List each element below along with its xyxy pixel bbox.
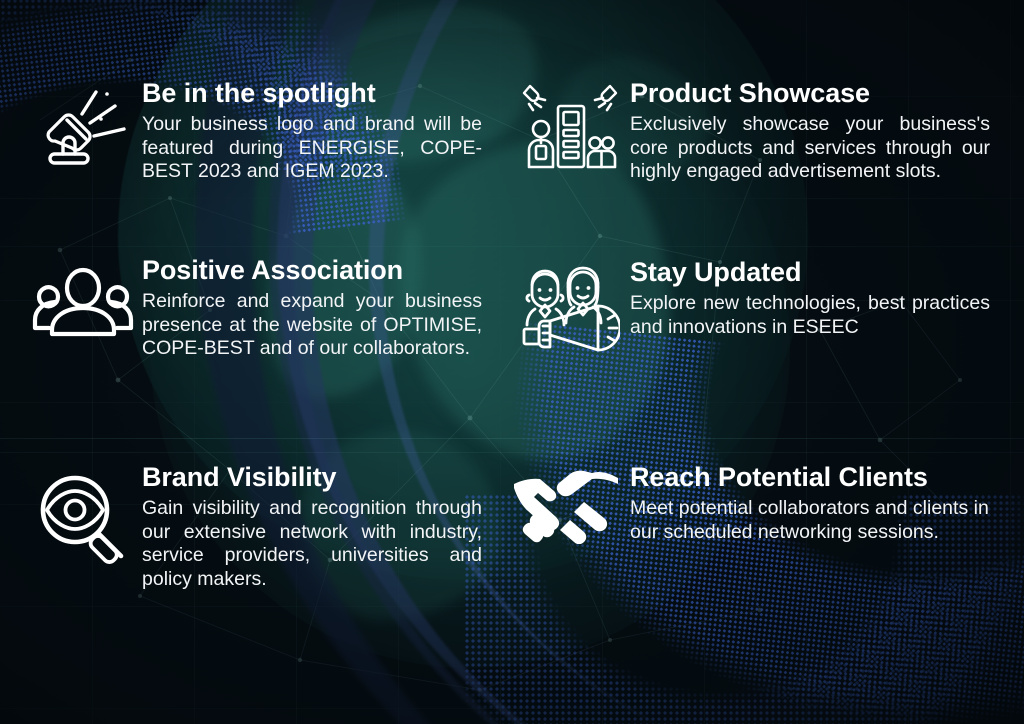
benefit-title: Product Showcase <box>630 78 990 108</box>
magnifier-eye-icon <box>24 462 142 724</box>
spotlight-icon <box>30 78 142 247</box>
benefit-card-positive-association: Positive Association Reinforce and expan… <box>0 247 492 452</box>
benefit-description: Gain visibility and recognition through … <box>142 497 482 591</box>
benefits-poster: Be in the spotlight Your business logo a… <box>0 0 1024 724</box>
megaphone-announcement-icon <box>510 257 630 452</box>
benefit-description: Reinforce and expand your business prese… <box>142 290 482 361</box>
benefit-description: Meet potential collaborators and clients… <box>630 497 990 544</box>
benefit-title: Brand Visibility <box>142 462 482 492</box>
benefit-description: Explore new technologies, best practices… <box>630 292 990 339</box>
benefit-card-product-showcase: Product Showcase Exclusively showcase yo… <box>492 0 1024 247</box>
benefit-card-stay-updated: Stay Updated Explore new technologies, b… <box>492 247 1024 452</box>
benefits-grid: Be in the spotlight Your business logo a… <box>0 0 1024 724</box>
benefit-title: Positive Association <box>142 255 482 285</box>
benefit-title: Be in the spotlight <box>142 78 482 108</box>
benefit-description: Exclusively showcase your business's cor… <box>630 113 990 184</box>
people-group-icon <box>24 255 142 452</box>
benefit-card-brand-visibility: Brand Visibility Gain visibility and rec… <box>0 452 492 724</box>
benefit-title: Stay Updated <box>630 257 990 287</box>
product-showcase-icon <box>510 78 630 247</box>
benefit-card-reach-potential-clients: Reach Potential Clients Meet potential c… <box>492 452 1024 724</box>
benefit-title: Reach Potential Clients <box>630 462 990 492</box>
handshake-icon <box>502 462 630 724</box>
benefit-description: Your business logo and brand will be fea… <box>142 113 482 184</box>
benefit-card-be-in-the-spotlight: Be in the spotlight Your business logo a… <box>0 0 492 247</box>
